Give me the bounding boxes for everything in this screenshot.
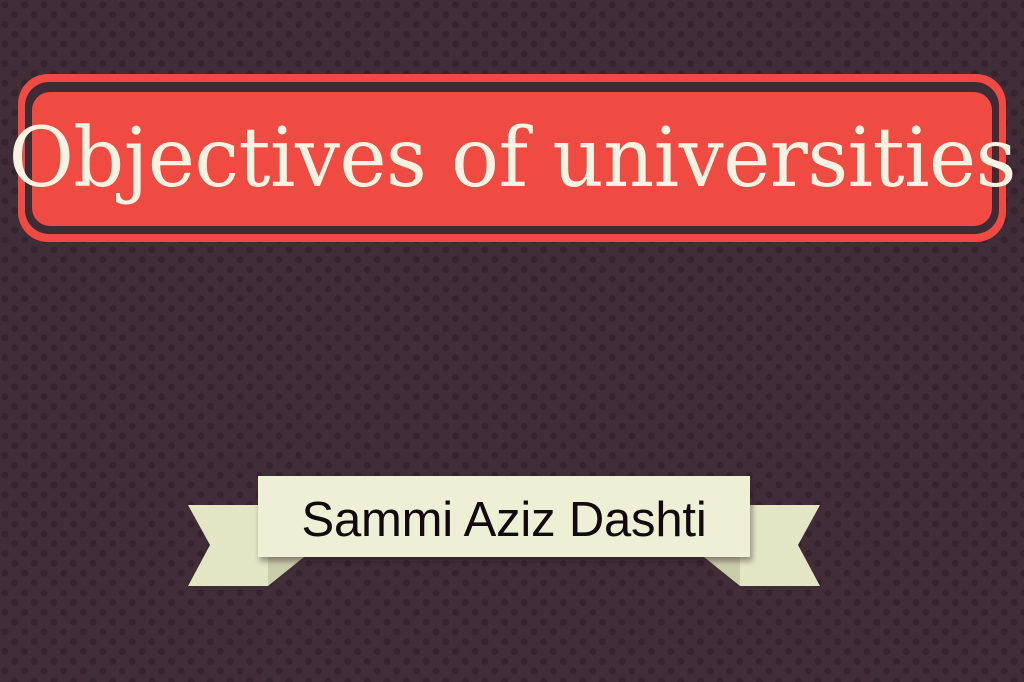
author-name: Sammi Aziz Dashti: [254, 476, 754, 563]
author-ribbon: Sammi Aziz Dashti: [186, 470, 822, 594]
title-banner: Objectives of universities: [18, 74, 1006, 242]
banner-inner-fill: Objectives of universities: [32, 92, 992, 226]
slide-title: Objectives of universities: [8, 118, 1015, 200]
presentation-slide: Objectives of universities Sammi Aziz Da…: [0, 0, 1024, 682]
